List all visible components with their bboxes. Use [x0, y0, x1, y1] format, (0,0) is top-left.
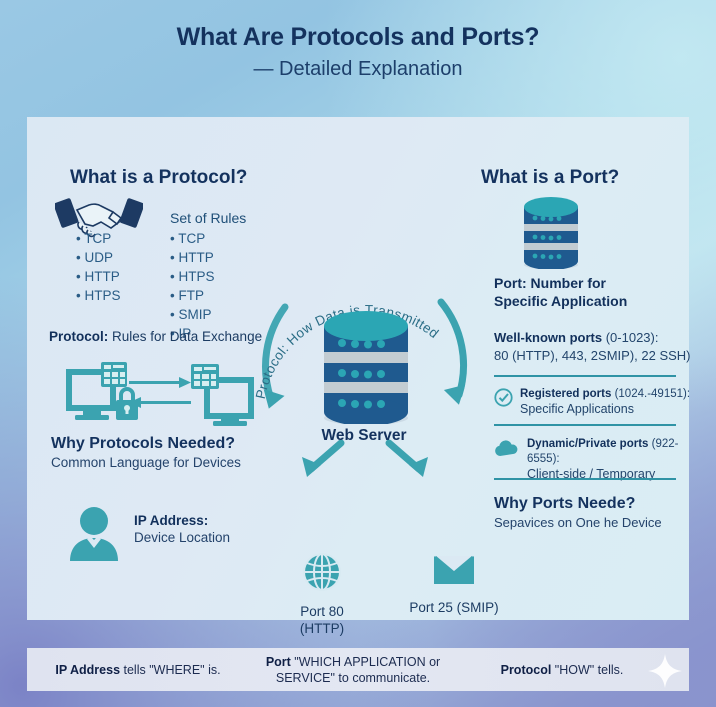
port-25-label: Port 25 (SMIP) [399, 599, 509, 616]
dynamic-ports-row: Dynamic/Private ports (922-6555): Client… [494, 437, 704, 482]
protocol-definition-label: Protocol: [49, 329, 108, 344]
why-ports-block: Why Ports Neede? Sepavices on One he Dev… [494, 495, 662, 530]
database-cylinder-icon-small [519, 195, 583, 274]
summary-footer: IP Address tells "WHERE" is. Port "WHICH… [27, 648, 689, 691]
person-icon [67, 505, 121, 566]
ip-address-block: IP Address: Device Location [134, 513, 230, 545]
registered-ports-text: Registered ports (1024.-49151): Specific… [520, 387, 690, 417]
check-circle-icon [494, 388, 513, 407]
two-monitors-exchange-icon [65, 360, 255, 437]
list-item: HTTP [170, 248, 246, 267]
globe-icon [302, 552, 342, 592]
sparkle-icon [647, 653, 683, 689]
protocol-definition: Protocol: Rules for Data Exchange [49, 329, 262, 344]
page-title: What Are Protocols and Ports? [0, 22, 716, 53]
center-diagram: Protocol: How Data is Transmitted [245, 247, 483, 477]
port-section-heading: What is a Port? [481, 167, 619, 189]
divider [494, 424, 676, 426]
port-definition: Port: Number for Specific Application [494, 274, 627, 310]
list-item: HTPS [76, 286, 121, 305]
list-item: HTTP [76, 267, 121, 286]
list-item: FTP [170, 286, 246, 305]
set-of-rules-list: Set of Rules TCP HTTP HTPS FTP SMIP IP [170, 209, 246, 343]
why-ports-subtitle: Sepavices on One he Device [494, 515, 662, 530]
footer-port-cell: Port "WHICH APPLICATION or SERVICE" to c… [249, 654, 457, 686]
registered-ports-row: Registered ports (1024.-49151): Specific… [494, 387, 704, 417]
cloud-icon [494, 439, 520, 458]
well-known-ports-block: Well-known ports (0-1023): 80 (HTTP), 44… [494, 329, 691, 365]
dynamic-ports-text: Dynamic/Private ports (922-6555): Client… [527, 437, 704, 482]
port-80-label: Port 80 (HTTP) [267, 603, 377, 637]
web-server-label: Web Server [245, 427, 483, 445]
list-item: TCP [170, 229, 246, 248]
divider [494, 375, 676, 377]
port-definition-line2: Specific Application [494, 292, 627, 310]
well-known-ports-heading: Well-known ports (0-1023): [494, 329, 691, 347]
set-of-rules-title: Set of Rules [170, 209, 246, 228]
well-known-ports-values: 80 (HTTP), 443, 2SMIP), 22 SSH) [494, 347, 691, 365]
list-item: SMIP [170, 305, 246, 324]
envelope-icon [432, 552, 476, 588]
ip-address-subtitle: Device Location [134, 530, 230, 545]
list-item: TCP [76, 229, 121, 248]
page-header: What Are Protocols and Ports? — Detailed… [0, 22, 716, 81]
protocol-section-heading: What is a Protocol? [70, 167, 247, 189]
port-25-node: Port 25 (SMIP) [399, 552, 509, 616]
why-ports-title: Why Ports Neede? [494, 495, 662, 513]
list-item: HTPS [170, 267, 246, 286]
protocol-list: TCP UDP HTTP HTPS [76, 229, 121, 305]
port-80-node: Port 80 (HTTP) [267, 552, 377, 637]
divider [494, 478, 676, 480]
database-cylinder-icon [318, 308, 414, 429]
protocol-definition-text: Rules for Data Exchange [108, 329, 262, 344]
ip-address-title: IP Address: [134, 513, 230, 528]
port-definition-line1: Port: Number for [494, 274, 627, 292]
page-subtitle: — Detailed Explanation [0, 57, 716, 81]
footer-ip-cell: IP Address tells "WHERE" is. [27, 662, 249, 678]
list-item: UDP [76, 248, 121, 267]
footer-protocol-cell: Protocol "HOW" tells. [457, 662, 667, 678]
infographic-card: What is a Protocol? TCP UDP HTTP HTPS Se… [27, 117, 689, 620]
